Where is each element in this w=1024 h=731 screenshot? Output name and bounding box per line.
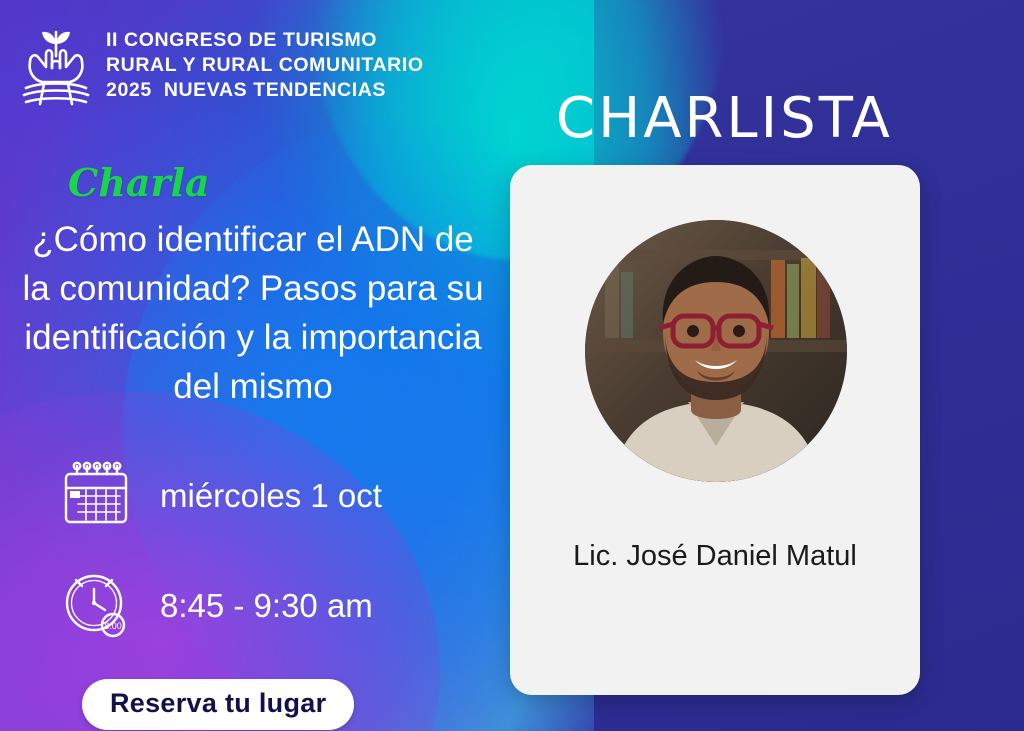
- talk-title: ¿Cómo identificar el ADN de la comunidad…: [18, 215, 488, 411]
- poster-canvas: II CONGRESO DE TURISMO RURAL Y RURAL COM…: [0, 0, 1024, 731]
- svg-text:8:00: 8:00: [104, 621, 122, 631]
- clock-icon: 8:00: [60, 570, 132, 642]
- reserve-button[interactable]: Reserva tu lugar: [82, 679, 354, 730]
- calendar-icon: [60, 460, 132, 532]
- logo-line-2: RURAL Y RURAL COMUNITARIO: [106, 53, 424, 78]
- congress-logo-text: II CONGRESO DE TURISMO RURAL Y RURAL COM…: [106, 22, 424, 103]
- section-label-charlista: CHARLISTA: [556, 86, 893, 151]
- speaker-photo: [585, 220, 847, 482]
- logo-line-3: 2025 NUEVAS TENDENCIAS: [106, 78, 424, 103]
- hands-holding-plant-logo-icon: [18, 22, 94, 108]
- congress-logo: II CONGRESO DE TURISMO RURAL Y RURAL COM…: [18, 22, 424, 108]
- date-value: miércoles 1 oct: [160, 477, 382, 515]
- time-row: 8:00 8:45 - 9:30 am: [60, 570, 373, 642]
- time-value: 8:45 - 9:30 am: [160, 587, 373, 625]
- date-row: miércoles 1 oct: [60, 460, 382, 532]
- speaker-name: Lic. José Daniel Matul: [510, 540, 920, 573]
- kicker-charla: Charla: [68, 160, 210, 205]
- speaker-card: Lic. José Daniel Matul: [510, 165, 920, 695]
- logo-line-1: II CONGRESO DE TURISMO: [106, 28, 424, 53]
